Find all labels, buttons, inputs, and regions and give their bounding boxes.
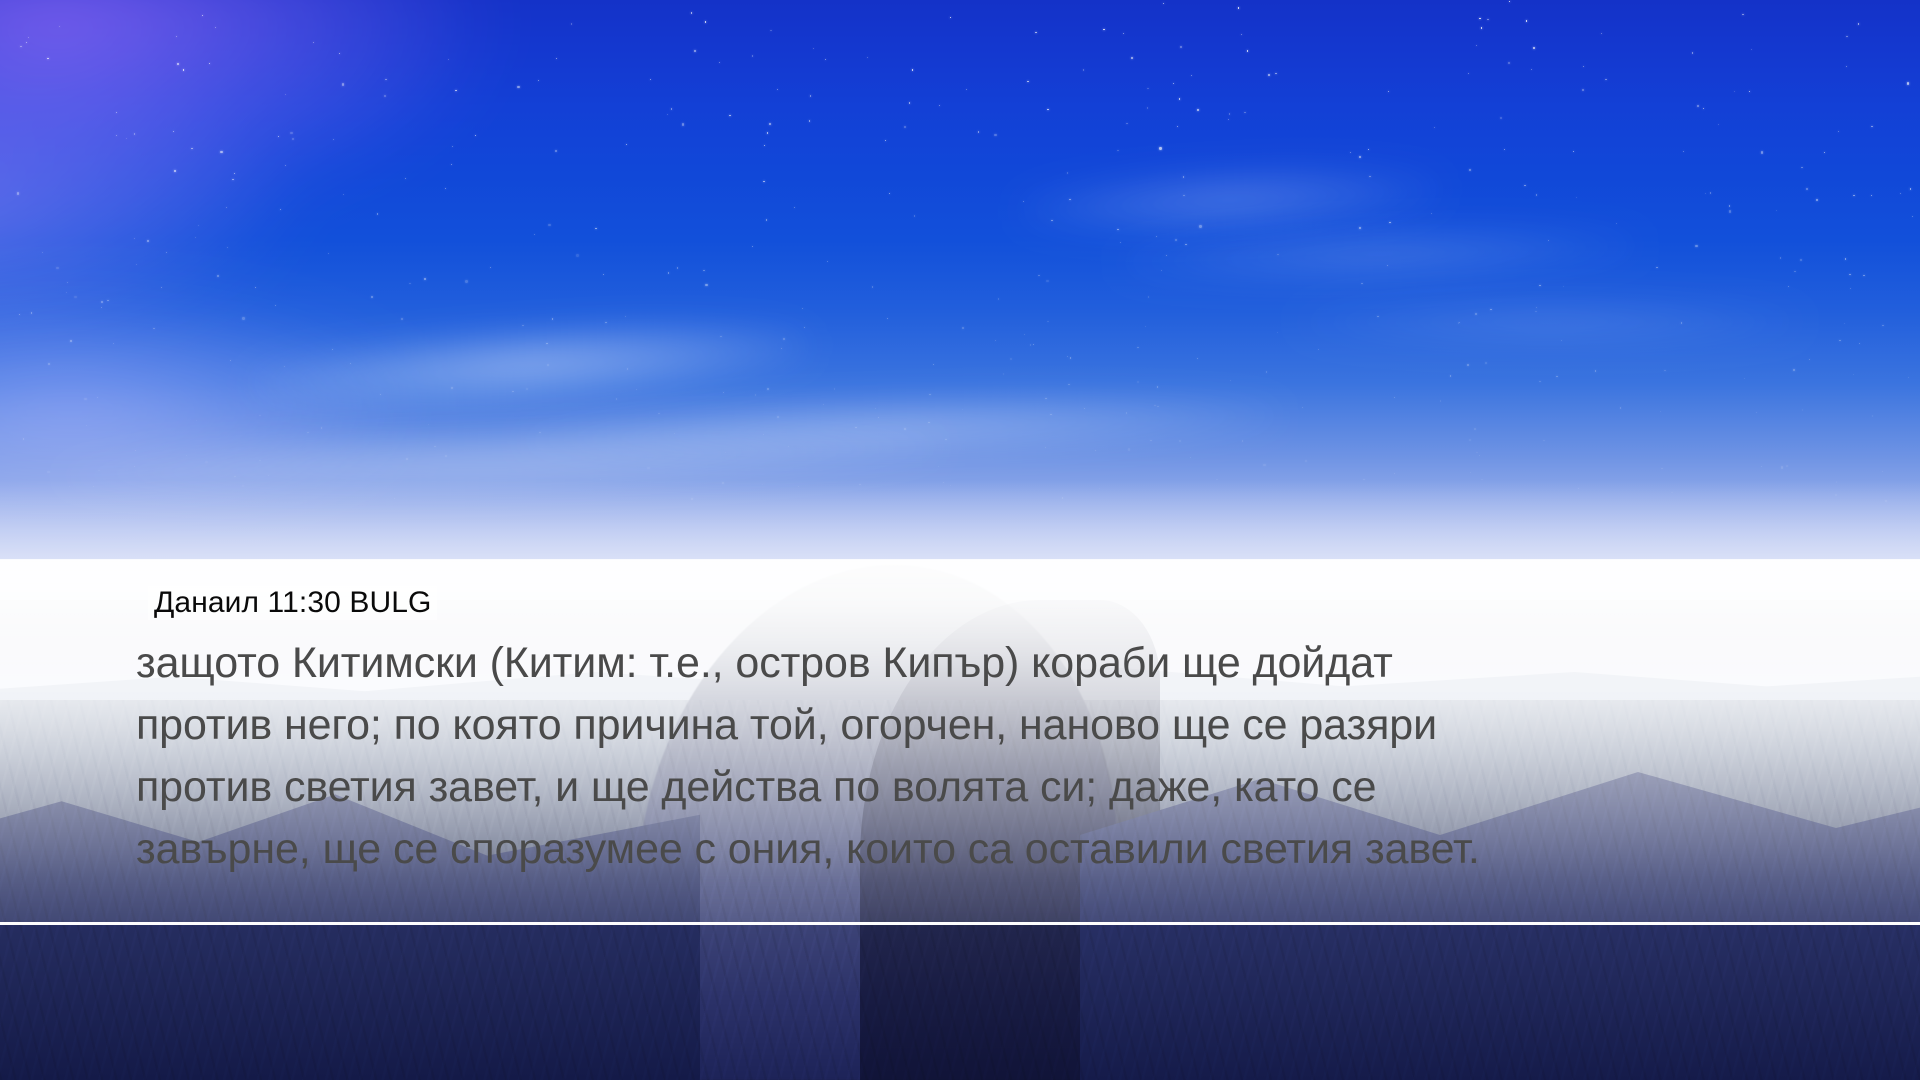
verse-line: против него; по която причина той, огорч… [136, 694, 1816, 756]
verse-reference: Данаил 11:30 BULG [148, 586, 437, 620]
verse-line: против светия завет, и ще действа по вол… [136, 756, 1816, 818]
verse-line: завърне, ще се споразумее с ония, които … [136, 818, 1816, 880]
verse-line: защото Китимски (Китим: т.е., остров Кип… [136, 632, 1816, 694]
verse-wallpaper: Данаил 11:30 BULG защото Китимски (Китим… [0, 0, 1920, 1080]
verse-text: защото Китимски (Китим: т.е., остров Кип… [136, 632, 1816, 880]
cloud-wisp [1300, 300, 1800, 344]
verse-overlay-panel: Данаил 11:30 BULG защото Китимски (Китим… [0, 559, 1920, 925]
